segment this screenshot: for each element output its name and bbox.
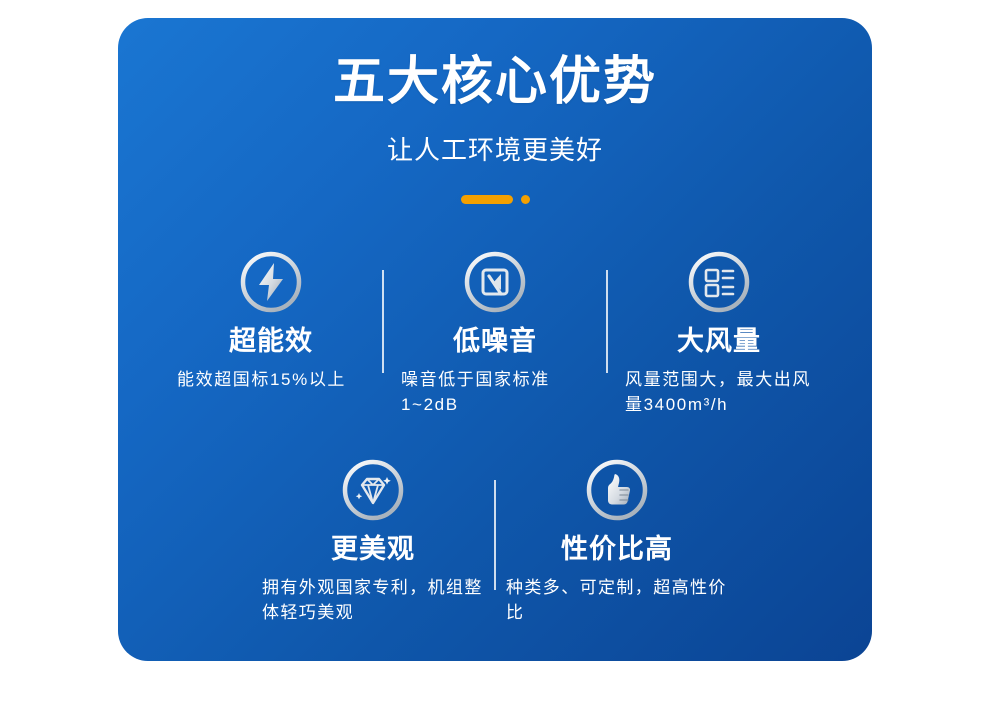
diamond-gem-icon	[341, 458, 405, 522]
feature-item-low-noise[interactable]: 低噪音 噪音低于国家标准1~2dB	[391, 250, 599, 417]
advantages-card: 五大核心优势 让人工环境更美好	[118, 18, 872, 661]
mute-square-slash-icon	[463, 250, 527, 314]
feature-description: 拥有外观国家专利，机组整体轻巧美观	[260, 576, 486, 625]
feature-title: 大风量	[621, 326, 817, 357]
divider-ornament	[118, 194, 872, 206]
page-subtitle: 让人工环境更美好	[118, 135, 872, 166]
feature-title: 低噪音	[397, 326, 593, 357]
feature-item-better-appearance[interactable]: 更美观 拥有外观国家专利，机组整体轻巧美观	[254, 458, 492, 625]
feature-description: 能效超国标15%以上	[173, 368, 369, 393]
feature-row-top: 超能效 能效超国标15%以上	[118, 250, 872, 417]
feature-title: 更美观	[260, 534, 486, 565]
feature-description: 种类多、可定制，超高性价比	[504, 576, 730, 625]
feature-title: 性价比高	[504, 534, 730, 565]
feature-item-super-efficiency[interactable]: 超能效 能效超国标15%以上	[167, 250, 375, 393]
feature-description: 风量范围大，最大出风量3400m³/h	[621, 368, 817, 417]
feature-divider-vertical	[494, 480, 496, 590]
list-layout-icon	[687, 250, 751, 314]
feature-item-large-airflow[interactable]: 大风量 风量范围大，最大出风量3400m³/h	[615, 250, 823, 417]
page-title: 五大核心优势	[118, 52, 872, 113]
page-root: 五大核心优势 让人工环境更美好	[0, 0, 990, 717]
thumbs-up-icon	[585, 458, 649, 522]
divider-dot	[521, 195, 530, 204]
feature-title: 超能效	[173, 326, 369, 357]
feature-divider-vertical	[382, 270, 384, 373]
lightning-bolt-icon	[239, 250, 303, 314]
feature-item-cost-performance[interactable]: 性价比高 种类多、可定制，超高性价比	[498, 458, 736, 625]
feature-divider-vertical	[606, 270, 608, 373]
divider-pill	[461, 195, 513, 204]
feature-description: 噪音低于国家标准1~2dB	[397, 368, 593, 417]
feature-row-bottom: 更美观 拥有外观国家专利，机组整体轻巧美观	[118, 458, 872, 625]
card-header: 五大核心优势 让人工环境更美好	[118, 18, 872, 206]
